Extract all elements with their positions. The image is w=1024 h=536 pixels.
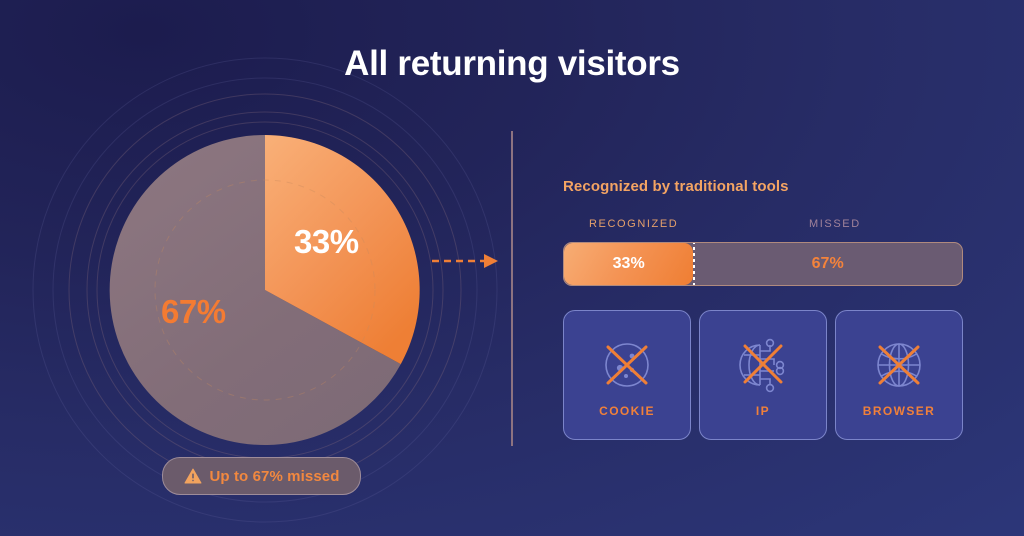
globe-browser-icon	[868, 337, 930, 395]
card-browser[interactable]: BROWSER	[835, 310, 963, 440]
blocked-signals-cards: COOKIE	[563, 310, 963, 440]
card-label-browser: BROWSER	[863, 404, 935, 418]
pie-chart-svg	[108, 133, 422, 447]
warning-triangle-icon	[184, 468, 202, 484]
vertical-divider	[511, 131, 513, 446]
panel-heading-label: Recognized by traditional tools	[563, 178, 963, 195]
bar-captions: RECOGNIZED MISSED	[563, 218, 963, 234]
page-title: All returning visitors	[0, 44, 1024, 84]
recognition-bar-block: RECOGNIZED MISSED 33% 67%	[563, 218, 963, 286]
flow-arrow-icon	[432, 252, 504, 270]
card-label-ip: IP	[756, 404, 770, 418]
card-ip[interactable]: IP	[699, 310, 827, 440]
bar-split-dotted-line	[693, 242, 695, 286]
pie-label-recognized: 33%	[294, 223, 359, 261]
bar-value-recognized: 33%	[564, 255, 693, 273]
pie-chart: 33% 67%	[108, 133, 422, 447]
bar-caption-missed: MISSED	[809, 218, 861, 230]
missed-badge: Up to 67% missed	[162, 457, 361, 495]
cookie-icon	[596, 337, 658, 395]
card-cookie[interactable]: COOKIE	[563, 310, 691, 440]
missed-badge-label: Up to 67% missed	[210, 468, 340, 485]
stacked-bar: 33% 67%	[563, 242, 963, 286]
bar-caption-recognized: RECOGNIZED	[589, 218, 678, 230]
panel-header: Recognized by traditional tools	[563, 178, 963, 195]
pie-label-missed: 67%	[161, 293, 226, 331]
infographic-canvas: All returning visitors	[0, 0, 1024, 536]
bar-value-missed: 67%	[693, 255, 962, 273]
ip-network-icon	[732, 337, 794, 395]
card-label-cookie: COOKIE	[599, 404, 655, 418]
